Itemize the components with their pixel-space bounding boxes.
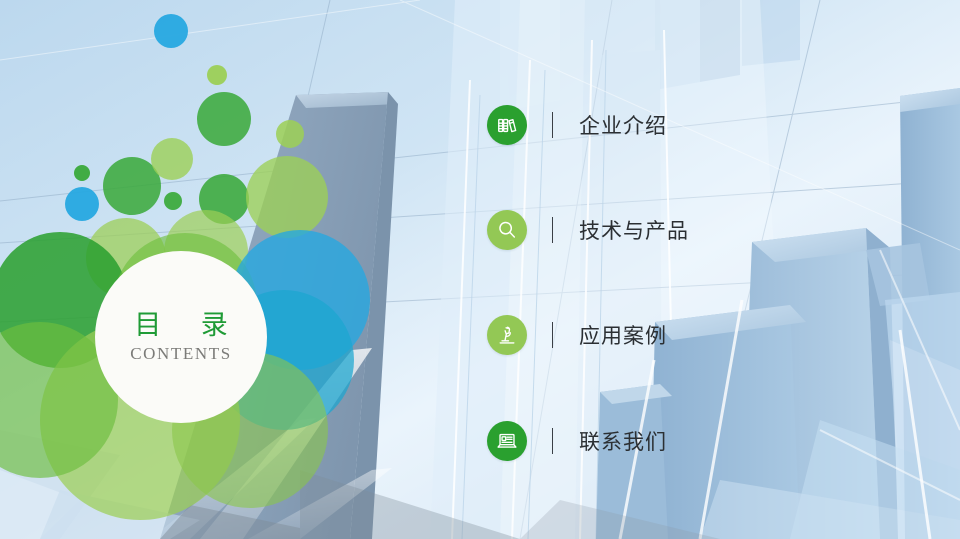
menu-item-use-cases[interactable]: 应用案例 <box>487 313 667 357</box>
menu-divider <box>552 322 553 348</box>
menu-item-contact-us[interactable]: 联系我们 <box>487 419 667 463</box>
decor-bubble <box>65 187 99 221</box>
books-icon <box>487 105 527 145</box>
microscope-icon <box>487 315 527 355</box>
menu-divider <box>552 428 553 454</box>
agenda-menu: 企业介绍 技术与产品 <box>487 0 907 539</box>
menu-divider <box>552 217 553 243</box>
menu-item-tech-products[interactable]: 技术与产品 <box>487 208 689 252</box>
decor-bubble <box>151 138 193 180</box>
contents-disc: 目 录 CONTENTS <box>95 251 267 423</box>
menu-item-company-intro[interactable]: 企业介绍 <box>487 103 667 147</box>
decor-bubble <box>207 65 227 85</box>
bubble-cluster <box>0 0 520 539</box>
contents-title-en: CONTENTS <box>130 344 232 364</box>
decor-bubble <box>154 14 188 48</box>
menu-label-tech-products: 技术与产品 <box>579 215 689 245</box>
contents-title-cn: 目 录 <box>118 310 244 341</box>
menu-divider <box>552 112 553 138</box>
laptop-icon <box>487 421 527 461</box>
menu-label-contact-us: 联系我们 <box>579 426 667 456</box>
decor-bubble <box>74 165 90 181</box>
agenda-slide: 目 录 CONTENTS 企业介绍 <box>0 0 960 539</box>
decor-bubble <box>164 192 182 210</box>
decor-bubble <box>246 156 328 238</box>
menu-label-use-cases: 应用案例 <box>579 320 667 350</box>
menu-label-company-intro: 企业介绍 <box>579 110 667 140</box>
decor-bubble <box>197 92 251 146</box>
magnifier-icon <box>487 210 527 250</box>
decor-bubble <box>276 120 304 148</box>
